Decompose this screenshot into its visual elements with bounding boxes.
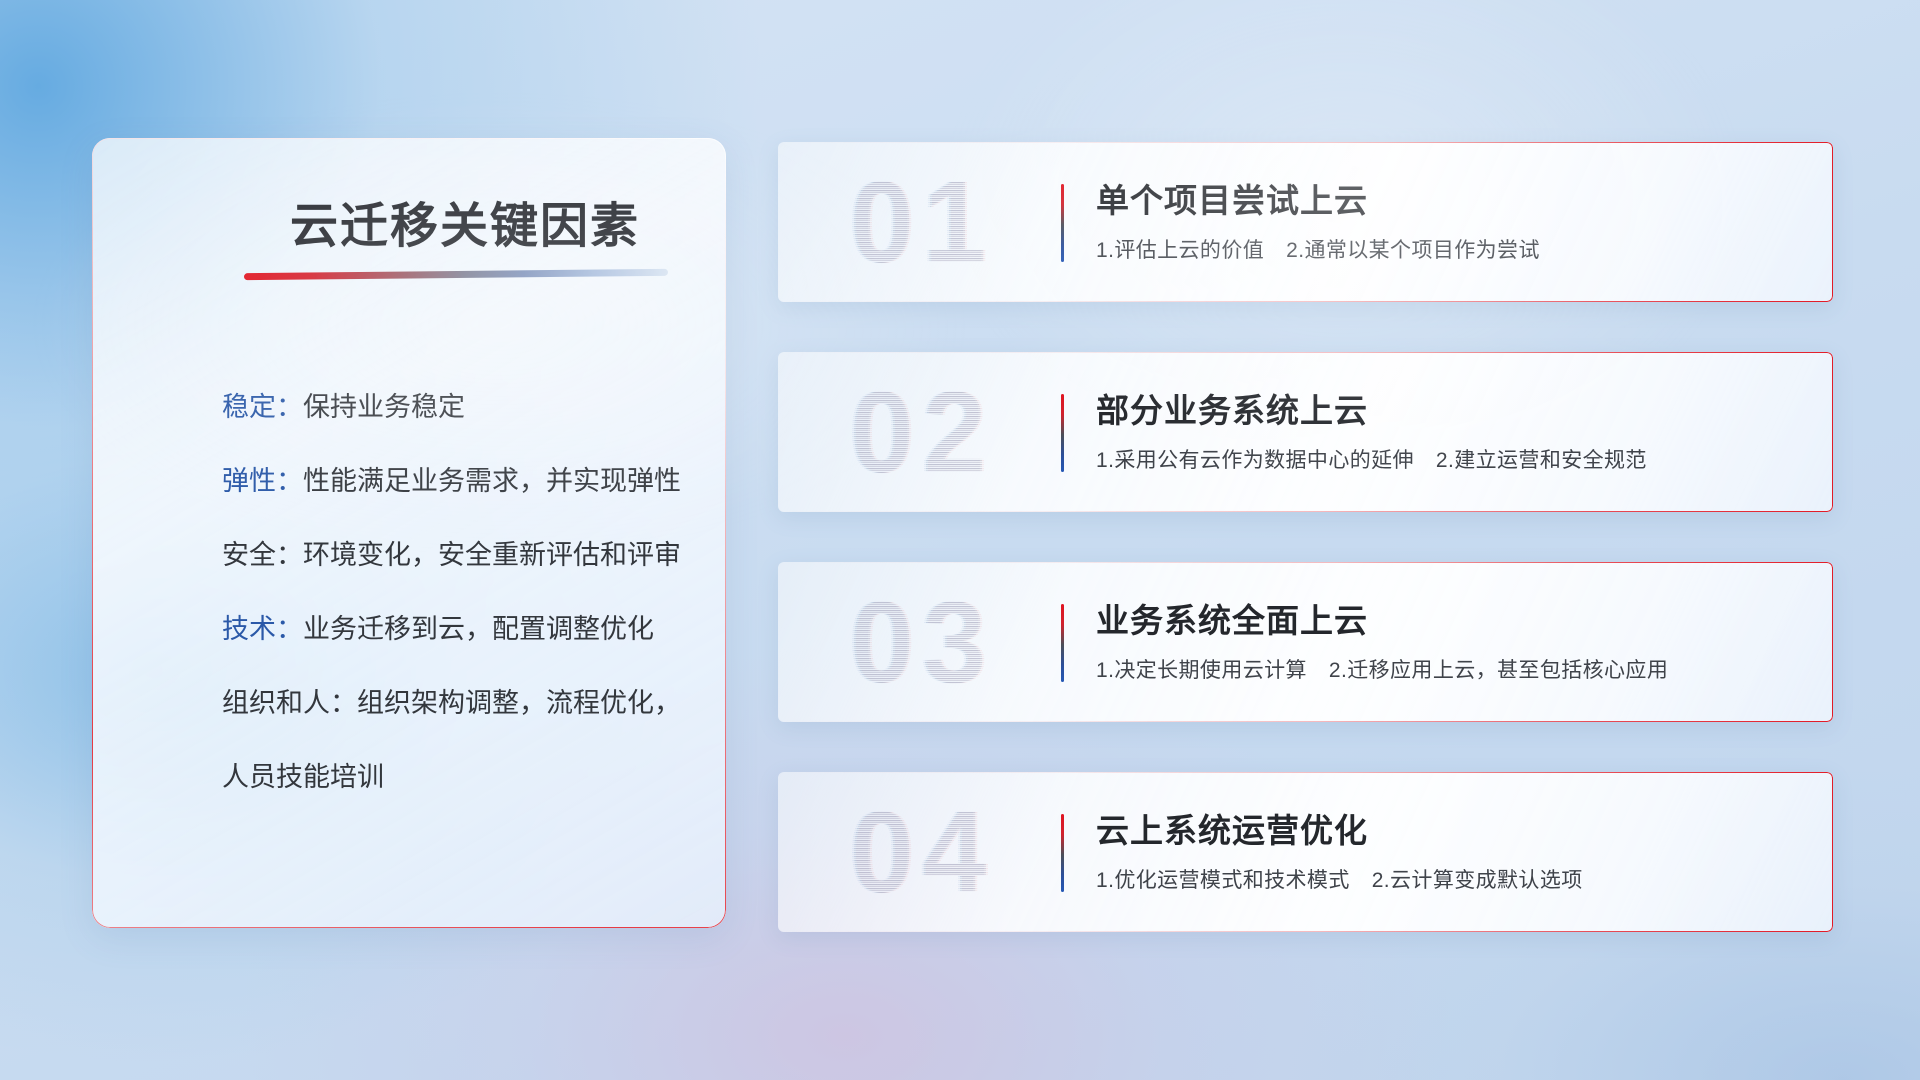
step-point-1: 1.决定长期使用云计算 xyxy=(1096,659,1307,682)
list-item: 稳定：保持业务稳定 xyxy=(222,370,692,444)
list-item-value: 业务迁移到云，配置调整优化 xyxy=(303,614,654,644)
list-item-value: 保持业务稳定 xyxy=(303,392,465,422)
key-factors-panel: 云迁移关键因素 稳定：保持业务稳定 弹性：性能满足业务需求，并实现弹性 安全：环… xyxy=(92,138,726,928)
list-item: 弹性：性能满足业务需求，并实现弹性 xyxy=(222,444,692,518)
step-subtitle: 1.评估上云的价值2.通常以某个项目作为尝试 xyxy=(1096,234,1540,264)
step-point-2: 2.云计算变成默认选项 xyxy=(1372,869,1583,892)
step-title: 部分业务系统上云 xyxy=(1096,384,1368,432)
step-point-1: 1.评估上云的价值 xyxy=(1096,239,1264,262)
list-item-value: 环境变化，安全重新评估和评审 xyxy=(303,540,681,570)
page-title: 云迁移关键因素 xyxy=(290,186,640,256)
step-number-label: 02 xyxy=(806,364,1038,500)
step-point-1: 1.优化运营模式和技术模式 xyxy=(1096,869,1350,892)
list-item: 安全：环境变化，安全重新评估和评审 xyxy=(222,518,692,592)
title-underline-rule xyxy=(244,269,668,280)
step-card[interactable]: 03 03 03 业务系统全面上云 1.决定长期使用云计算2.迁移应用上云，甚至… xyxy=(778,562,1833,722)
step-subtitle: 1.采用公有云作为数据中心的延伸2.建立运营和安全规范 xyxy=(1096,444,1647,474)
step-subtitle: 1.优化运营模式和技术模式2.云计算变成默认选项 xyxy=(1096,864,1583,894)
step-card[interactable]: 04 04 04 云上系统运营优化 1.优化运营模式和技术模式2.云计算变成默认… xyxy=(778,772,1833,932)
slide-canvas: 云迁移关键因素 稳定：保持业务稳定 弹性：性能满足业务需求，并实现弹性 安全：环… xyxy=(0,0,1920,1080)
step-point-2: 2.迁移应用上云，甚至包括核心应用 xyxy=(1329,659,1668,682)
list-item-key: 安全： xyxy=(222,540,303,570)
step-point-2: 2.建立运营和安全规范 xyxy=(1436,449,1647,472)
step-divider-bar xyxy=(1061,604,1064,682)
list-item-value: 人员技能培训 xyxy=(222,762,384,792)
step-number-graphic: 02 02 02 xyxy=(806,364,1038,500)
step-point-2: 2.通常以某个项目作为尝试 xyxy=(1286,239,1540,262)
step-title: 业务系统全面上云 xyxy=(1096,594,1368,642)
list-item: 组织和人：组织架构调整，流程优化， xyxy=(222,666,692,740)
step-divider-bar xyxy=(1061,814,1064,892)
step-card[interactable]: 01 01 01 单个项目尝试上云 1.评估上云的价值2.通常以某个项目作为尝试 xyxy=(778,142,1833,302)
step-number-label: 03 xyxy=(806,574,1038,710)
list-item-key: 弹性： xyxy=(222,466,303,496)
key-factors-list: 稳定：保持业务稳定 弹性：性能满足业务需求，并实现弹性 安全：环境变化，安全重新… xyxy=(222,370,692,814)
list-item: 技术：业务迁移到云，配置调整优化 xyxy=(222,592,692,666)
step-title: 单个项目尝试上云 xyxy=(1096,174,1368,222)
step-number-graphic: 04 04 04 xyxy=(806,784,1038,920)
list-item-value: 组织架构调整，流程优化， xyxy=(357,688,681,718)
list-item-key: 稳定： xyxy=(222,392,303,422)
step-point-1: 1.采用公有云作为数据中心的延伸 xyxy=(1096,449,1414,472)
list-item-key: 组织和人： xyxy=(222,688,357,718)
list-item-key: 技术： xyxy=(222,614,303,644)
step-number-label: 04 xyxy=(806,784,1038,920)
list-item: 人员技能培训 xyxy=(222,740,692,814)
list-item-value: 性能满足业务需求，并实现弹性 xyxy=(303,466,681,496)
step-divider-bar xyxy=(1061,184,1064,262)
step-number-graphic: 03 03 03 xyxy=(806,574,1038,710)
step-subtitle: 1.决定长期使用云计算2.迁移应用上云，甚至包括核心应用 xyxy=(1096,654,1668,684)
step-title: 云上系统运营优化 xyxy=(1096,804,1368,852)
step-number-graphic: 01 01 01 xyxy=(806,154,1038,290)
step-divider-bar xyxy=(1061,394,1064,472)
step-number-label: 01 xyxy=(806,154,1038,290)
step-card[interactable]: 02 02 02 部分业务系统上云 1.采用公有云作为数据中心的延伸2.建立运营… xyxy=(778,352,1833,512)
